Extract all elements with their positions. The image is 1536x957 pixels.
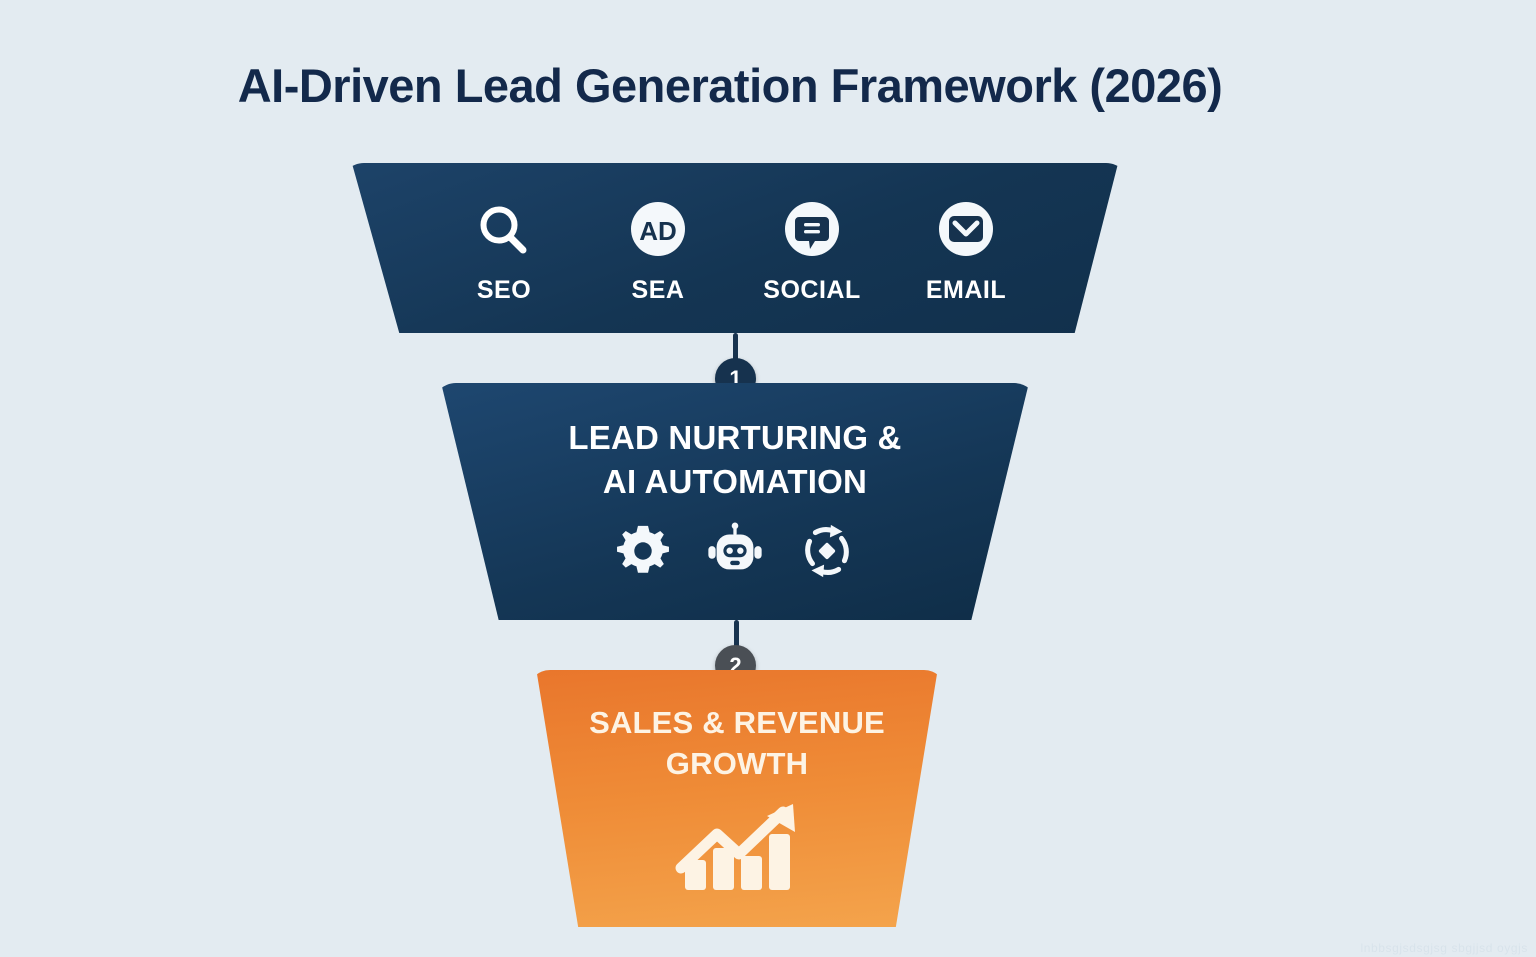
channel-item-sea[interactable]: AD SEA [604, 198, 712, 305]
growth-chart-icon [673, 802, 801, 894]
chat-bubble-icon [780, 198, 844, 264]
sync-icon [796, 520, 858, 587]
funnel-stage-revenue[interactable]: SALES & REVENUE GROWTH [528, 670, 946, 927]
robot-icon [704, 520, 766, 587]
gear-icon [612, 520, 674, 587]
ad-circle-icon: AD [626, 198, 690, 264]
channel-item-seo[interactable]: SEO [450, 198, 558, 305]
channel-icon-row: SEO AD SEA [450, 198, 1020, 305]
page-title: AI-Driven Lead Generation Framework (202… [0, 58, 1460, 113]
funnel-stage-revenue-title: SALES & REVENUE GROWTH [589, 703, 885, 785]
funnel-stage-nurturing-title: LEAD NURTURING & AI AUTOMATION [568, 416, 901, 503]
funnel-stage-awareness[interactable]: SEO AD SEA [340, 163, 1130, 333]
channel-label-seo: SEO [477, 276, 531, 305]
automation-icon-row [612, 520, 858, 587]
funnel-stage-awareness-content: SEO AD SEA [340, 163, 1130, 333]
channel-item-email[interactable]: EMAIL [912, 198, 1020, 305]
funnel-stage-revenue-content: SALES & REVENUE GROWTH [528, 670, 946, 927]
watermark-text: lnbbsgjsdsgjsg sbgjjsd oygjs [1360, 941, 1528, 955]
svg-text:AD: AD [639, 216, 677, 246]
infographic-canvas: AI-Driven Lead Generation Framework (202… [0, 0, 1536, 957]
channel-label-sea: SEA [632, 276, 685, 305]
funnel-stage-nurturing[interactable]: LEAD NURTURING & AI AUTOMATION [432, 383, 1038, 620]
channel-label-social: SOCIAL [763, 276, 860, 305]
funnel-stage-nurturing-content: LEAD NURTURING & AI AUTOMATION [432, 383, 1038, 620]
channel-label-email: EMAIL [926, 276, 1006, 305]
envelope-icon [934, 198, 998, 264]
channel-item-social[interactable]: SOCIAL [758, 198, 866, 305]
magnifier-icon [472, 198, 536, 264]
